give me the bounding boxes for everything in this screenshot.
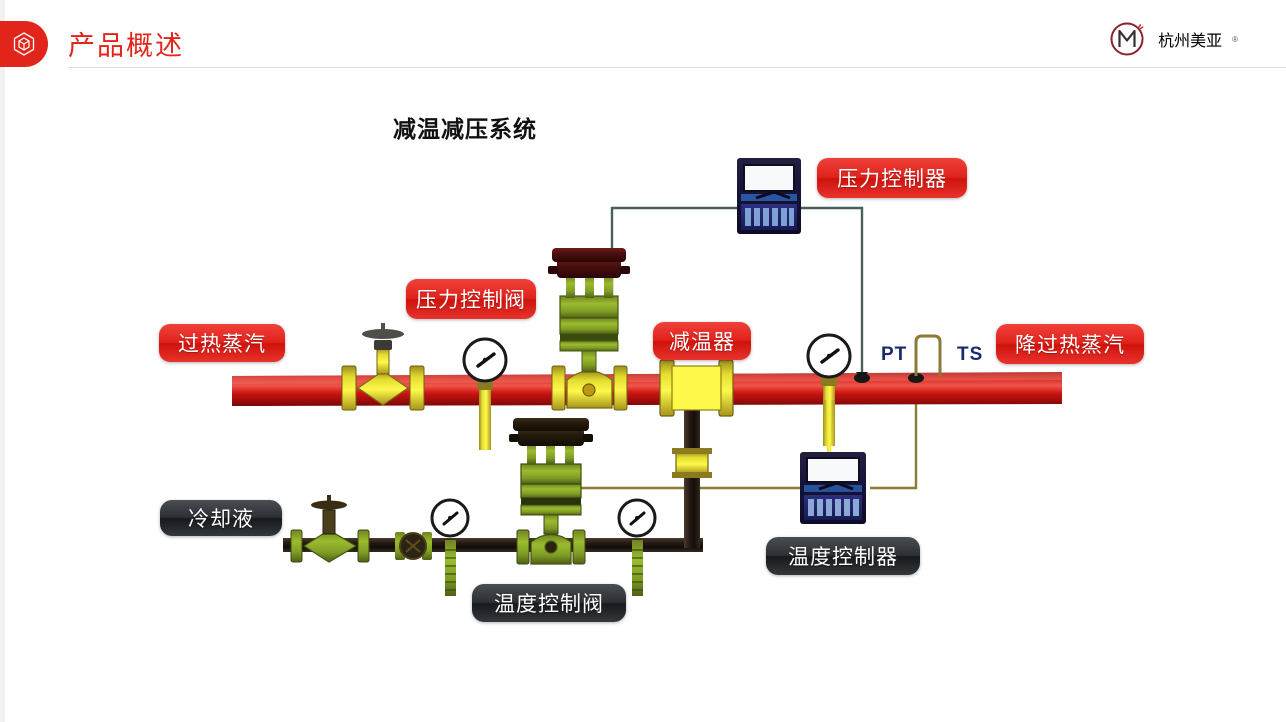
sensor-label-ts: TS: [957, 344, 983, 366]
page-header: 产品概述 杭州美亚 ®: [0, 0, 1286, 74]
pid-schematic: [0, 80, 1286, 722]
header-divider: [68, 67, 1286, 68]
label-coolant: 冷却液: [160, 500, 282, 536]
sensor-label-pt: PT: [881, 344, 907, 366]
pressure-control-valve[interactable]: [548, 248, 630, 410]
label-temperature-controller: 温度控制器: [766, 537, 920, 575]
label-desuperheater: 减温器: [653, 322, 751, 360]
label-desuperheated-steam: 降过热蒸汽: [996, 324, 1144, 364]
brand-name: 杭州美亚: [1158, 27, 1222, 51]
label-superheated-steam: 过热蒸汽: [159, 324, 285, 362]
label-temperature-control-valve: 温度控制阀: [472, 584, 626, 622]
slide-root: 产品概述 杭州美亚 ® 减温减压系统: [0, 0, 1286, 722]
page-title: 产品概述: [68, 24, 184, 63]
coolant-strainer: [395, 532, 432, 560]
temperature-control-valve[interactable]: [509, 418, 593, 564]
label-pressure-controller: 压力控制器: [817, 158, 967, 198]
brand-logo: 杭州美亚 ®: [1107, 18, 1238, 60]
temperature-controller[interactable]: [800, 452, 866, 524]
registered-mark: ®: [1232, 35, 1238, 44]
m-circle-logo-icon: [1107, 18, 1149, 60]
cube-hexagon-icon: [0, 21, 48, 67]
label-pressure-control-valve: 压力控制阀: [406, 279, 536, 319]
pressure-controller[interactable]: [737, 158, 801, 234]
process-diagram: PT TS: [0, 80, 1286, 722]
steam-gate-valve: [342, 323, 424, 410]
